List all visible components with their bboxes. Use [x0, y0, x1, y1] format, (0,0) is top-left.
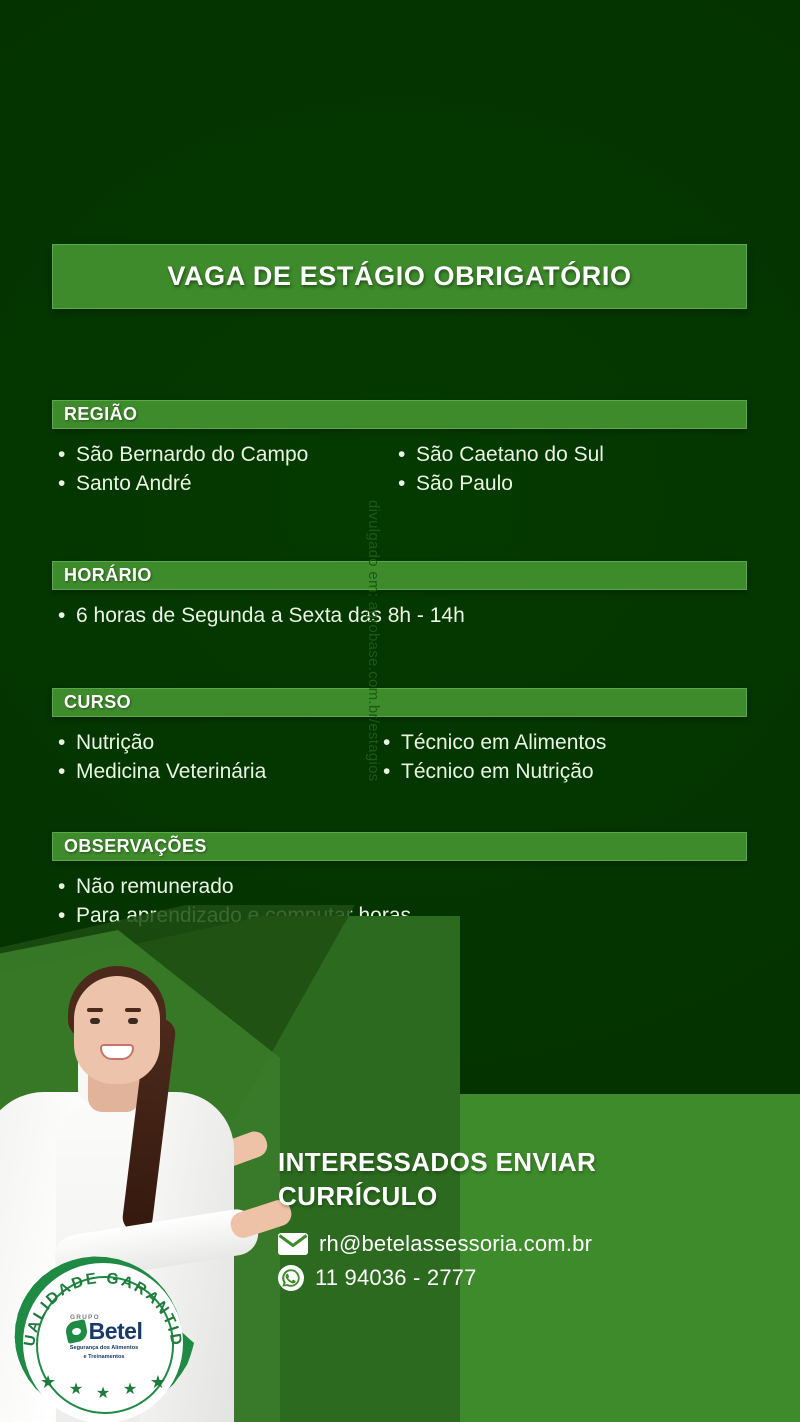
section-body-regiao: São Bernardo do Campo Santo André São Ca…	[52, 429, 747, 498]
leaf-icon	[64, 1319, 89, 1344]
section-heading-label: HORÁRIO	[64, 565, 152, 586]
list-item: Nutrição	[52, 728, 377, 757]
bullet-column-left: 6 horas de Segunda a Sexta das 8h - 14h	[52, 601, 747, 630]
badge-tagline-line1: Segurança dos Alimentos	[48, 1345, 160, 1352]
section-heading-label: CURSO	[64, 692, 131, 713]
list-item: Técnico em Nutrição	[377, 757, 747, 786]
badge-brand-row: Betel	[48, 1320, 160, 1343]
subject-eye-left	[90, 1018, 100, 1024]
list-item: São Caetano do Sul	[392, 440, 747, 469]
section-header-observacoes: OBSERVAÇÕES	[52, 832, 747, 861]
contact-headline-line1: INTERESSADOS ENVIAR	[278, 1147, 596, 1177]
bullet-column-right: São Caetano do Sul São Paulo	[392, 440, 747, 498]
source-credit-text: divulgado em: agrobase.com.br/estagios	[365, 500, 382, 920]
section-heading-label: OBSERVAÇÕES	[64, 836, 207, 857]
list-item: Medicina Veterinária	[52, 757, 377, 786]
badge-tagline-line2: e Treinamentos	[48, 1354, 160, 1361]
page-title: VAGA DE ESTÁGIO OBRIGATÓRIO	[167, 261, 631, 292]
badge-star-row: ★ ★ ★ ★ ★	[40, 1380, 166, 1402]
subject-eye-right	[128, 1018, 138, 1024]
subject-eyebrow-right	[125, 1008, 141, 1012]
section-heading-label: REGIÃO	[64, 404, 137, 425]
list-item: São Bernardo do Campo	[52, 440, 392, 469]
contact-email-value[interactable]: rh@betelassessoria.com.br	[319, 1231, 592, 1257]
bullet-column-right: Técnico em Alimentos Técnico em Nutrição	[377, 728, 747, 786]
star-icon: ★	[123, 1382, 137, 1398]
section-horario: HORÁRIO 6 horas de Segunda a Sexta das 8…	[52, 561, 747, 630]
list-item: Não remunerado	[52, 872, 747, 901]
subject-eyebrow-left	[87, 1008, 103, 1012]
bullet-column-left: Nutrição Medicina Veterinária	[52, 728, 377, 786]
subject-smile	[100, 1044, 134, 1060]
section-header-curso: CURSO	[52, 688, 747, 717]
contact-block: INTERESSADOS ENVIAR CURRÍCULO rh@betelas…	[278, 1145, 778, 1291]
contact-whatsapp-value[interactable]: 11 94036 - 2777	[315, 1265, 477, 1291]
section-body-horario: 6 horas de Segunda a Sexta das 8h - 14h	[52, 590, 747, 630]
star-icon: ★	[150, 1374, 166, 1390]
contact-headline: INTERESSADOS ENVIAR CURRÍCULO	[278, 1145, 778, 1213]
list-item: Santo André	[52, 469, 392, 498]
list-item: São Paulo	[392, 469, 747, 498]
contact-email-row[interactable]: rh@betelassessoria.com.br	[278, 1231, 778, 1257]
poster-canvas: VAGA DE ESTÁGIO OBRIGATÓRIO REGIÃO São B…	[0, 0, 800, 1422]
star-icon: ★	[40, 1374, 56, 1390]
contact-headline-line2: CURRÍCULO	[278, 1181, 438, 1211]
section-header-horario: HORÁRIO	[52, 561, 747, 590]
badge-logo: GRUPO Betel Segurança dos Alimentos e Tr…	[48, 1314, 160, 1361]
badge-brand-name: Betel	[89, 1320, 143, 1343]
list-item: 6 horas de Segunda a Sexta das 8h - 14h	[52, 601, 747, 630]
whatsapp-icon	[278, 1265, 304, 1291]
section-body-curso: Nutrição Medicina Veterinária Técnico em…	[52, 717, 747, 786]
list-item: Técnico em Alimentos	[377, 728, 747, 757]
section-curso: CURSO Nutrição Medicina Veterinária Técn…	[52, 688, 747, 786]
quality-badge: QUALIDADE GARANTIDA GRUPO Betel Seguranç…	[12, 1252, 194, 1422]
subject-face	[74, 976, 160, 1084]
section-header-regiao: REGIÃO	[52, 400, 747, 429]
section-regiao: REGIÃO São Bernardo do Campo Santo André…	[52, 400, 747, 498]
star-icon: ★	[96, 1386, 110, 1402]
bullet-column-left: São Bernardo do Campo Santo André	[52, 440, 392, 498]
contact-whatsapp-row[interactable]: 11 94036 - 2777	[278, 1265, 778, 1291]
star-icon: ★	[69, 1382, 83, 1398]
poster-title-bar: VAGA DE ESTÁGIO OBRIGATÓRIO	[52, 244, 747, 309]
envelope-icon	[278, 1233, 308, 1255]
